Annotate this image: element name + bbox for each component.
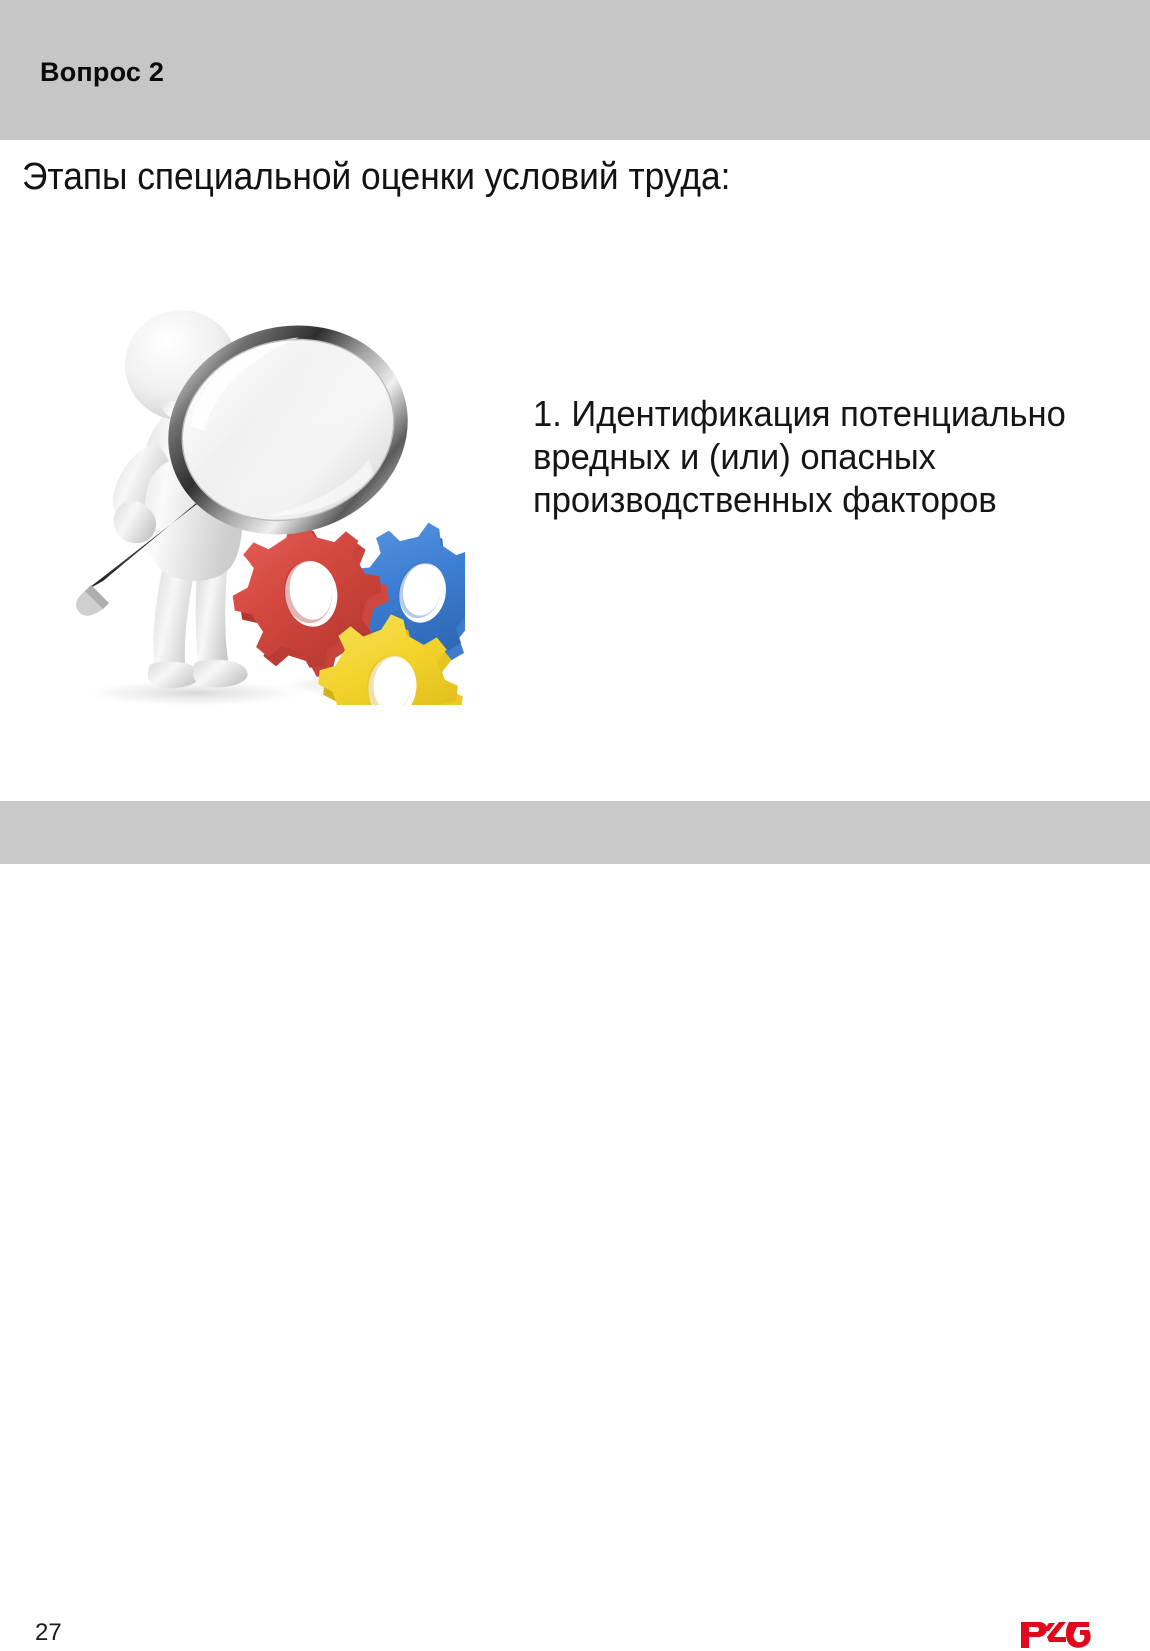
page-number: 27 [35,1619,62,1647]
footer-band: 27 [0,801,1150,864]
header-band: Вопрос 2 [0,0,1150,140]
subtitle: Этапы специальной оценки условий труда: [22,156,730,199]
slide: Вопрос 2 Этапы специальной оценки услови… [0,0,1150,864]
body-text: 1. Идентификация потенциально вредных и … [533,392,1099,521]
rzd-logo-icon [1019,1615,1093,1651]
page-title: Вопрос 2 [40,57,164,88]
figure-shadow [80,679,310,705]
illustration-figure-with-magnifier [45,265,465,705]
